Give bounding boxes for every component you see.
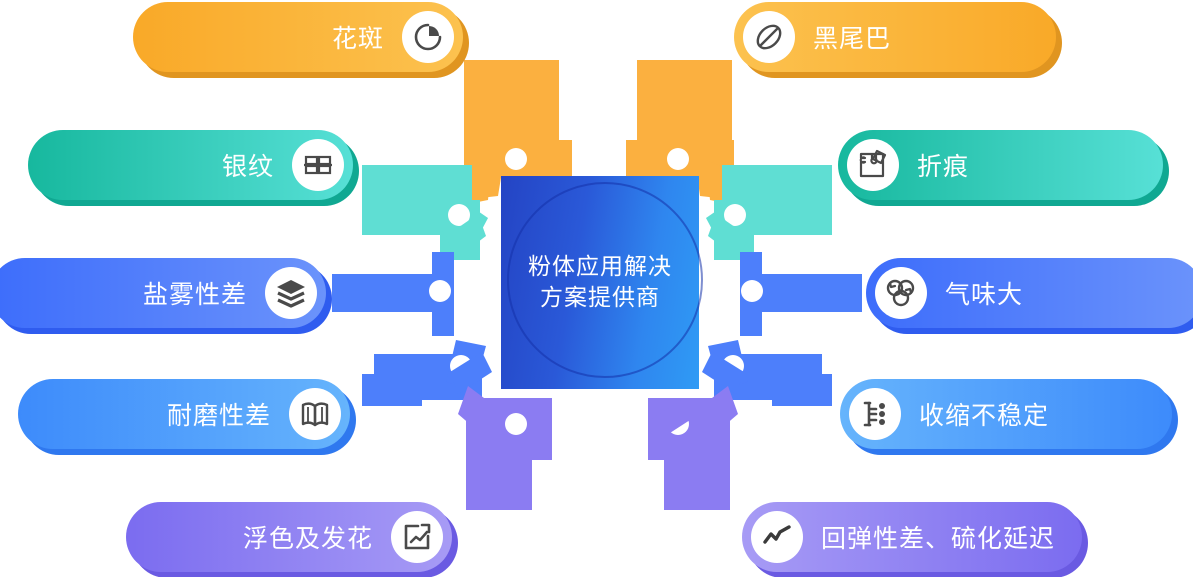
layers-icon — [265, 267, 317, 319]
node-pills-layer: 花斑黑尾巴银纹折痕盐雾性差气味大耐磨性差收缩不稳定浮色及发花回弹性差、硫化延迟 — [0, 0, 1193, 577]
node-pill-label: 花斑 — [332, 19, 384, 55]
node-pill-label: 回弹性差、硫化延迟 — [821, 519, 1055, 555]
node-pill-label: 折痕 — [917, 147, 969, 183]
sitemap-icon — [849, 388, 901, 440]
node-pill-label: 盐雾性差 — [143, 275, 247, 311]
node-pill-label: 银纹 — [222, 147, 274, 183]
node-pill-zhe-hen[interactable]: 折痕 — [838, 130, 1163, 200]
node-pill-hei-wei-ba[interactable]: 黑尾巴 — [734, 2, 1056, 72]
node-pill-yan-wu-xing-cha[interactable]: 盐雾性差 — [0, 258, 326, 328]
pie-chart-icon — [402, 11, 454, 63]
node-pill-fu-se-ji-fa-hua[interactable]: 浮色及发花 — [126, 502, 452, 572]
node-pill-hui-tan-xing-cha[interactable]: 回弹性差、硫化延迟 — [742, 502, 1082, 572]
node-pill-yin-wen[interactable]: 银纹 — [28, 130, 353, 200]
node-pill-hua-ban[interactable]: 花斑 — [133, 2, 463, 72]
infographic-radial-diagram: 粉体应用解决 方案提供商 花斑黑尾巴银纹折痕盐雾性差气味大耐磨性差收缩不稳定浮色… — [0, 0, 1193, 577]
node-pill-label: 黑尾巴 — [813, 19, 891, 55]
recycle-icon — [875, 267, 927, 319]
brick-wall-icon — [292, 139, 344, 191]
puzzle-icon — [847, 139, 899, 191]
node-pill-label: 耐磨性差 — [167, 396, 271, 432]
node-pill-label: 浮色及发花 — [243, 519, 373, 555]
trend-up-box-icon — [391, 511, 443, 563]
node-pill-qi-wei-da[interactable]: 气味大 — [866, 258, 1193, 328]
node-pill-shou-suo-bu-wen-ding[interactable]: 收缩不稳定 — [840, 379, 1172, 449]
node-pill-label: 收缩不稳定 — [919, 396, 1049, 432]
map-icon — [289, 388, 341, 440]
node-pill-label: 气味大 — [945, 275, 1023, 311]
leaf-icon — [743, 11, 795, 63]
line-chart-icon — [751, 511, 803, 563]
node-pill-nai-mo-xing-cha[interactable]: 耐磨性差 — [18, 379, 350, 449]
